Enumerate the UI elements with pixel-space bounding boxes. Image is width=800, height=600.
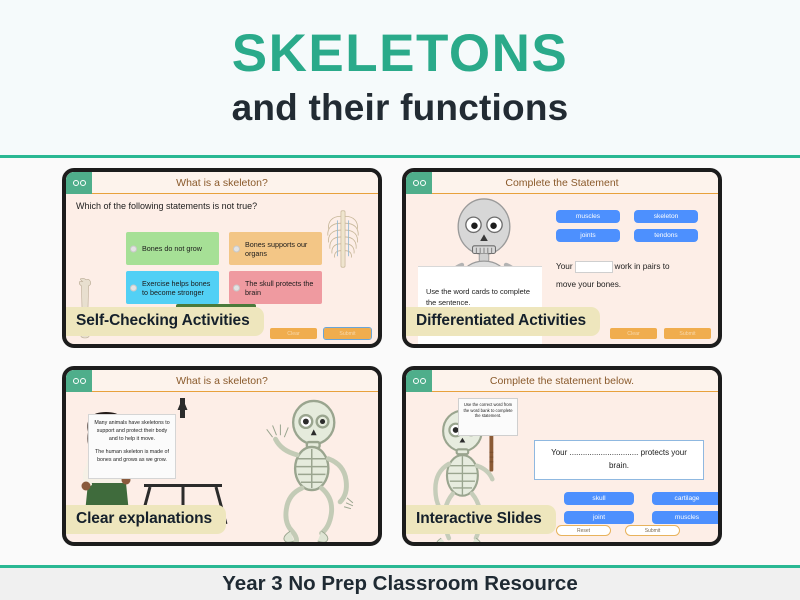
radio-icon[interactable] [130, 284, 137, 291]
preview-card-clear-explanations[interactable]: What is a skeleton? [62, 366, 382, 546]
card3-whiteboard-text: Many animals have skeletons to support a… [88, 414, 176, 479]
option-exercise-helps-bones[interactable]: Exercise helps bones to become stronger [126, 271, 219, 304]
card2-badge: Differentiated Activities [404, 307, 600, 336]
reset-button[interactable]: Reset [556, 525, 611, 536]
card3-header: What is a skeleton? [66, 370, 378, 392]
sentence-blank-input[interactable] [575, 261, 613, 273]
word-card-joint[interactable]: joint [564, 511, 634, 524]
ribcage-illustration [322, 208, 364, 270]
board-paragraph-2: The human skeleton is made of bones and … [93, 449, 171, 465]
page-subtitle: and their functions [232, 88, 569, 129]
card1-options: Bones do not grow Bones supports our org… [126, 232, 322, 304]
card4-word-bank: skull cartilage joint muscles [564, 492, 722, 524]
card4-header: Complete the statement below. [406, 370, 718, 392]
card4-badge: Interactive Slides [404, 505, 556, 534]
hero-section: SKELETONS and their functions [0, 0, 800, 155]
word-card-skull[interactable]: skull [564, 492, 634, 505]
card2-title: Complete the Statement [505, 177, 618, 189]
owl-eye-left-icon [413, 378, 419, 384]
owl-eye-right-icon [80, 180, 86, 186]
word-card-skeleton[interactable]: skeleton [634, 210, 698, 223]
card4-sentence-text: Your ............................... pro… [543, 447, 695, 473]
preview-card-self-checking[interactable]: What is a skeleton? Which of the followi… [62, 168, 382, 348]
owl-eye-right-icon [420, 180, 426, 186]
option-bones-do-not-grow[interactable]: Bones do not grow [126, 232, 219, 265]
sentence-after: work in pairs to [615, 262, 670, 271]
clear-button[interactable]: Clear [610, 328, 657, 339]
card3-badge: Clear explanations [64, 505, 226, 534]
card1-question: Which of the following statements is not… [76, 201, 257, 211]
word-card-muscles[interactable]: muscles [556, 210, 620, 223]
radio-icon[interactable] [233, 245, 240, 252]
owl-eyes-logo-icon [66, 370, 92, 392]
card1-button-row: Clear Submit [270, 328, 371, 339]
card3-body: Many animals have skeletons to support a… [66, 392, 378, 542]
card1-badge: Self-Checking Activities [64, 307, 264, 336]
owl-eyes-logo-icon [406, 172, 432, 194]
card2-sentence: Yourwork in pairs to move your bones. [556, 258, 716, 294]
card4-sign-text: Use the correct word from the word bank … [461, 402, 515, 419]
card4-title: Complete the statement below. [490, 375, 634, 387]
word-card-joints[interactable]: joints [556, 229, 620, 242]
owl-eyes-logo-icon [406, 370, 432, 392]
card3-title: What is a skeleton? [176, 375, 268, 387]
card1-body: Which of the following statements is not… [66, 194, 378, 344]
submit-button[interactable]: Submit [625, 525, 680, 536]
submit-button[interactable]: Submit [324, 328, 371, 339]
option-bones-support-organs[interactable]: Bones supports our organs [229, 232, 322, 265]
footer-text: Year 3 No Prep Classroom Resource [222, 572, 578, 596]
word-card-cartilage[interactable]: cartilage [652, 492, 722, 505]
clear-button[interactable]: Clear [270, 328, 317, 339]
word-card-tendons[interactable]: tendons [634, 229, 698, 242]
card-grid: What is a skeleton? Which of the followi… [0, 158, 800, 565]
page-title: SKELETONS [232, 26, 568, 82]
radio-icon[interactable] [130, 245, 137, 252]
word-card-muscles[interactable]: muscles [652, 511, 722, 524]
card2-body: Use the word cards to complete the sente… [406, 194, 718, 344]
owl-eyes-logo-icon [66, 172, 92, 194]
card4-body: Use the correct word from the word bank … [406, 392, 718, 542]
option-label: Bones supports our organs [245, 240, 318, 258]
card4-button-row: Reset Submit [556, 525, 680, 536]
card1-title: What is a skeleton? [176, 177, 268, 189]
sentence-line2: move your bones. [556, 280, 621, 289]
owl-eye-right-icon [80, 378, 86, 384]
option-skull-protects-brain[interactable]: The skull protects the brain [229, 271, 322, 304]
card4-sentence-box[interactable]: Your ............................... pro… [534, 440, 704, 480]
card2-instruction-text: Use the word cards to complete the sente… [426, 287, 534, 308]
owl-eye-right-icon [420, 378, 426, 384]
option-label: Bones do not grow [142, 244, 202, 253]
option-label: Exercise helps bones to become stronger [142, 279, 215, 297]
card1-header: What is a skeleton? [66, 172, 378, 194]
card2-button-row: Clear Submit [610, 328, 711, 339]
owl-eye-left-icon [413, 180, 419, 186]
card4-sign-panel: Use the correct word from the word bank … [458, 398, 518, 436]
dancing-skeleton-illustration [244, 398, 356, 543]
preview-card-differentiated[interactable]: Complete the Statement [402, 168, 722, 348]
radio-icon[interactable] [233, 284, 240, 291]
option-label: The skull protects the brain [245, 279, 318, 297]
card2-word-bank: muscles skeleton joints tendons [556, 210, 698, 242]
owl-eye-left-icon [73, 378, 79, 384]
preview-card-interactive-slides[interactable]: Complete the statement below. [402, 366, 722, 546]
board-paragraph-1: Many animals have skeletons to support a… [93, 420, 171, 444]
submit-button[interactable]: Submit [664, 328, 711, 339]
card2-header: Complete the Statement [406, 172, 718, 194]
poster-page: SKELETONS and their functions What is a … [0, 0, 800, 600]
footer-bar: Year 3 No Prep Classroom Resource [0, 568, 800, 600]
sentence-before: Your [556, 262, 573, 271]
owl-eye-left-icon [73, 180, 79, 186]
